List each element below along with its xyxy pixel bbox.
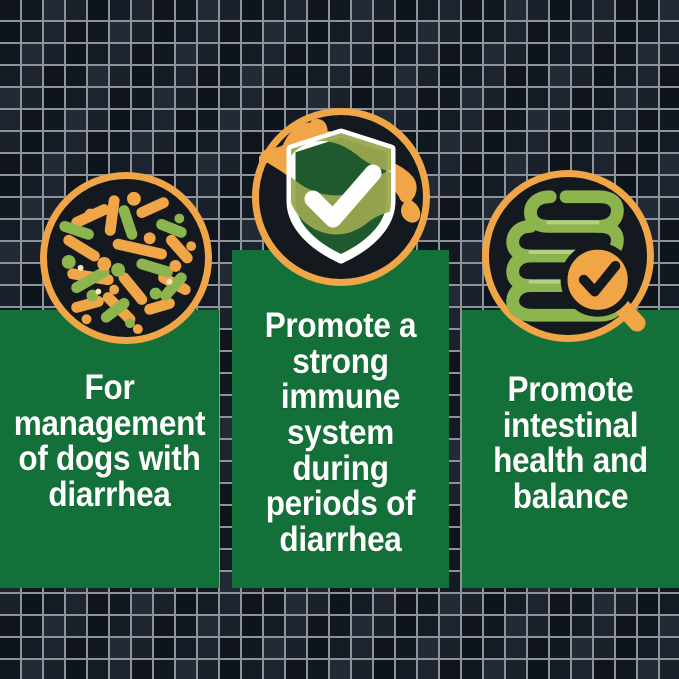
background-tile [264,660,284,679]
background-tile [616,132,636,152]
background-tile [484,660,504,679]
background-tile [88,660,108,679]
benefit-text-line: intestinal [473,408,668,444]
background-tile [352,44,372,64]
background-tile [22,66,42,86]
background-tile [418,594,438,614]
background-tile [660,176,679,196]
background-tile [220,44,240,64]
background-tile [198,0,218,20]
background-tile [22,616,42,636]
background-tile [352,88,372,108]
background-tile [242,44,262,64]
background-tile [0,198,20,218]
background-tile [352,594,372,614]
background-tile [484,132,504,152]
background-tile [550,638,570,658]
background-tile [528,22,548,42]
background-tile [462,0,482,20]
background-tile [462,660,482,679]
background-tile [352,66,372,86]
background-tile [660,198,679,218]
background-tile [132,110,152,130]
background-tile [44,594,64,614]
benefit-text-line: immune [243,379,438,415]
background-tile [264,66,284,86]
background-tile [616,44,636,64]
background-tile [528,0,548,20]
background-tile [528,638,548,658]
background-tile [0,44,20,64]
background-tile [88,88,108,108]
background-tile [286,88,306,108]
background-tile [506,594,526,614]
background-tile [550,0,570,20]
background-tile [0,110,20,130]
background-tile [616,66,636,86]
benefit-text-center: Promote astrongimmunesystem duringperiod… [243,308,438,558]
background-tile [374,88,394,108]
background-tile [176,638,196,658]
background-tile [66,660,86,679]
background-tile [66,638,86,658]
background-tile [396,0,416,20]
background-tile [308,594,328,614]
background-tile [528,616,548,636]
background-tile [264,44,284,64]
background-tile [66,66,86,86]
background-tile [308,88,328,108]
benefit-panel-center: Promote astrongimmunesystem duringperiod… [232,250,449,588]
background-tile [154,22,174,42]
background-tile [506,22,526,42]
background-tile [374,0,394,20]
background-tile [0,264,20,284]
background-tile [396,66,416,86]
background-tile [440,66,460,86]
background-tile [660,616,679,636]
background-tile [638,44,658,64]
background-tile [550,22,570,42]
background-tile [242,0,262,20]
background-tile [44,66,64,86]
background-tile [264,616,284,636]
background-tile [440,176,460,196]
background-tile [572,638,592,658]
background-tile [176,660,196,679]
benefit-text-line: of dogs with [11,441,208,477]
background-tile [484,44,504,64]
background-tile [462,638,482,658]
background-tile [440,44,460,64]
background-tile [484,66,504,86]
background-tile [660,88,679,108]
background-tile [66,154,86,174]
background-tile [154,0,174,20]
background-tile [528,594,548,614]
background-tile [0,0,20,20]
background-tile [616,0,636,20]
background-tile [110,594,130,614]
background-tile [660,220,679,240]
background-tile [440,22,460,42]
background-tile [110,22,130,42]
background-tile [660,110,679,130]
background-tile [528,154,548,174]
background-tile [374,638,394,658]
background-tile [550,66,570,86]
background-tile [440,594,460,614]
background-tile [88,594,108,614]
background-tile [594,110,614,130]
background-tile [308,616,328,636]
background-tile [308,638,328,658]
background-tile [330,44,350,64]
background-tile [132,594,152,614]
background-tile [462,22,482,42]
background-tile [660,0,679,20]
background-tile [44,660,64,679]
background-tile [594,44,614,64]
background-tile [572,110,592,130]
background-tile [308,0,328,20]
background-tile [22,198,42,218]
background-tile [418,660,438,679]
background-tile [154,66,174,86]
background-tile [154,594,174,614]
background-tile [308,44,328,64]
background-tile [462,220,482,240]
background-tile [88,154,108,174]
background-tile [550,616,570,636]
background-tile [110,660,130,679]
intestine-magnifier-icon [482,170,654,342]
background-tile [198,660,218,679]
background-tile [594,638,614,658]
background-tile [198,22,218,42]
background-tile [374,22,394,42]
background-tile [154,154,174,174]
background-tile [484,616,504,636]
background-tile [132,66,152,86]
background-tile [418,66,438,86]
background-tile [440,220,460,240]
background-tile [330,594,350,614]
background-tile [286,660,306,679]
background-tile [330,0,350,20]
background-tile [418,638,438,658]
background-tile [110,638,130,658]
background-tile [286,594,306,614]
background-tile [462,594,482,614]
background-tile [638,110,658,130]
background-tile [440,660,460,679]
background-tile [330,22,350,42]
background-tile [484,22,504,42]
background-tile [220,66,240,86]
background-tile [198,616,218,636]
background-tile [484,0,504,20]
background-tile [242,594,262,614]
background-tile [22,44,42,64]
background-tile [264,22,284,42]
background-tile [572,66,592,86]
background-tile [88,110,108,130]
background-tile [638,638,658,658]
background-tile [572,132,592,152]
background-tile [374,594,394,614]
background-tile [176,154,196,174]
background-tile [66,594,86,614]
background-tile [176,44,196,64]
background-tile [616,22,636,42]
background-tile [484,638,504,658]
background-tile [594,660,614,679]
background-tile [462,198,482,218]
background-tile [594,66,614,86]
benefit-panel-left: Formanagementof dogs withdiarrhea [0,310,219,588]
benefit-text-line: management [11,406,208,442]
background-tile [264,88,284,108]
background-tile [462,154,482,174]
background-tile [110,132,130,152]
background-tile [440,110,460,130]
background-tile [242,660,262,679]
background-tile [528,44,548,64]
background-tile [242,638,262,658]
background-tile [0,242,20,262]
background-tile [616,88,636,108]
background-tile [66,22,86,42]
background-tile [572,0,592,20]
background-tile [660,286,679,306]
background-tile [66,110,86,130]
background-tile [44,638,64,658]
background-tile [638,154,658,174]
background-tile [550,132,570,152]
background-tile [22,264,42,284]
background-tile [220,22,240,42]
background-tile [484,154,504,174]
background-tile [264,638,284,658]
background-tile [0,594,20,614]
background-tile [110,154,130,174]
background-tile [132,154,152,174]
background-tile [330,66,350,86]
background-tile [22,594,42,614]
background-tile [638,22,658,42]
benefit-text-right: Promoteintestinalhealth andbalance [473,372,668,515]
background-tile [462,110,482,130]
background-tile [286,616,306,636]
background-tile [132,0,152,20]
background-tile [22,88,42,108]
background-tile [88,44,108,64]
background-tile [462,286,482,306]
background-tile [176,88,196,108]
background-tile [506,110,526,130]
background-tile [396,660,416,679]
background-tile [44,616,64,636]
background-tile [660,132,679,152]
background-tile [440,132,460,152]
benefit-text-line: diarrhea [11,477,208,513]
background-tile [352,616,372,636]
background-tile [220,132,240,152]
background-tile [22,242,42,262]
background-tile [396,44,416,64]
background-tile [572,594,592,614]
background-tile [0,154,20,174]
background-tile [220,110,240,130]
background-tile [198,44,218,64]
shield [289,133,399,259]
background-tile [616,110,636,130]
background-tile [22,176,42,196]
background-tile [396,594,416,614]
background-tile [506,616,526,636]
background-tile [44,88,64,108]
background-tile [506,132,526,152]
background-tile [594,0,614,20]
background-tile [528,66,548,86]
background-tile [638,132,658,152]
background-tile [286,638,306,658]
benefit-text-line: balance [473,479,668,515]
background-tile [44,44,64,64]
background-tile [220,638,240,658]
background-tile [44,0,64,20]
background-tile [660,264,679,284]
background-tile [352,638,372,658]
background-tile [0,132,20,152]
background-tile [506,44,526,64]
bacteria-icon [40,172,212,344]
background-tile [198,110,218,130]
background-tile [528,132,548,152]
background-tile [44,154,64,174]
background-tile [220,198,240,218]
background-tile [88,616,108,636]
background-tile [66,132,86,152]
background-tile [198,638,218,658]
background-tile [132,22,152,42]
background-tile [550,110,570,130]
background-tile [660,638,679,658]
background-tile [154,88,174,108]
background-tile [352,22,372,42]
background-tile [330,660,350,679]
background-tile [44,132,64,152]
background-tile [330,616,350,636]
background-tile [0,286,20,306]
background-tile [660,242,679,262]
background-tile [440,0,460,20]
background-tile [22,286,42,306]
background-tile [418,616,438,636]
background-tile [154,132,174,152]
background-tile [638,66,658,86]
background-tile [462,264,482,284]
intestine-glyph [489,177,647,335]
background-tile [418,22,438,42]
background-tile [286,22,306,42]
background-tile [374,616,394,636]
background-tile [594,88,614,108]
benefit-text-line: health and [473,443,668,479]
background-tile [308,660,328,679]
background-tile [374,660,394,679]
background-tile [396,88,416,108]
background-tile [506,66,526,86]
benefit-text-line: For [11,370,208,406]
background-tile [550,44,570,64]
background-tile [220,660,240,679]
dog-shield-glyph [259,115,423,279]
background-tile [594,154,614,174]
background-tile [660,154,679,174]
background-tile [484,88,504,108]
background-tile [286,0,306,20]
background-tile [22,220,42,240]
background-tile [22,22,42,42]
background-tile [88,66,108,86]
background-tile [660,660,679,679]
background-tile [154,44,174,64]
background-tile [572,44,592,64]
background-tile [286,66,306,86]
background-tile [506,638,526,658]
background-tile [418,44,438,64]
benefit-text-line: Promote [473,372,668,408]
background-tile [110,88,130,108]
background-tile [572,22,592,42]
background-tile [198,88,218,108]
background-tile [110,110,130,130]
background-tile [44,22,64,42]
background-tile [110,44,130,64]
background-tile [638,0,658,20]
background-tile [88,22,108,42]
background-tile [506,0,526,20]
benefit-text-line: system during [243,415,438,486]
background-tile [660,44,679,64]
background-tile [132,616,152,636]
background-tile [154,638,174,658]
background-tile [264,0,284,20]
background-tile [528,88,548,108]
background-tile [66,44,86,64]
background-tile [440,616,460,636]
background-tile [506,154,526,174]
background-tile [220,220,240,240]
background-tile [462,242,482,262]
background-tile [506,660,526,679]
background-tile [638,88,658,108]
background-tile [0,638,20,658]
background-tile [638,660,658,679]
benefit-panel-right: Promoteintestinalhealth andbalance [462,310,679,588]
background-tile [220,88,240,108]
background-tile [374,44,394,64]
background-tile [198,154,218,174]
background-tile [220,616,240,636]
background-tile [22,660,42,679]
background-tile [22,132,42,152]
background-tile [242,66,262,86]
background-tile [660,594,679,614]
background-tile [44,110,64,130]
